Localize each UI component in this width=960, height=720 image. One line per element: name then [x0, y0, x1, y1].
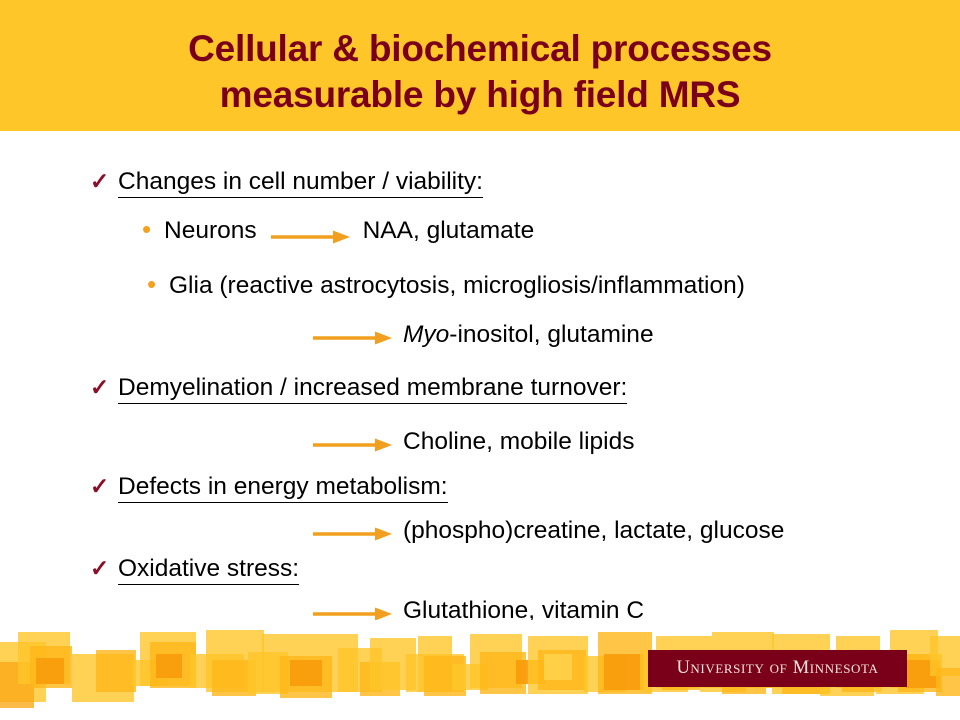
- check-icon: ✓: [90, 167, 118, 195]
- university-logo-text: University of Minnesota: [676, 658, 878, 679]
- decorative-square: [936, 668, 960, 696]
- list-item-changes: ✓Changes in cell number / viability:: [90, 167, 483, 198]
- list-item-label: Oxidative stress:: [118, 555, 299, 585]
- list-item-target-italic: Myo: [403, 321, 449, 348]
- arrow-right-icon: [313, 522, 393, 540]
- list-item-neurons: •NeuronsNAA, glutamate: [142, 215, 534, 245]
- list-item-label: Changes in cell number / viability:: [118, 168, 483, 198]
- list-item-label: Demyelination / increased membrane turno…: [118, 374, 627, 404]
- list-item-target: NAA, glutamate: [363, 217, 535, 245]
- list-item-label: Neurons: [164, 217, 257, 245]
- decorative-square: [96, 650, 136, 692]
- check-icon: ✓: [90, 554, 118, 582]
- arrow-right-icon: [313, 433, 393, 451]
- page-title-line-2: measurable by high field MRS: [0, 72, 960, 118]
- list-item-glia: •Glia (reactive astrocytosis, microglios…: [147, 270, 745, 300]
- list-item-demyelination: ✓Demyelination / increased membrane turn…: [90, 373, 627, 404]
- list-item-choline: Choline, mobile lipids: [313, 428, 635, 456]
- list-item-oxidative-stress: ✓Oxidative stress:: [90, 554, 299, 585]
- bullet-dot-icon: •: [147, 270, 169, 298]
- list-item-myo-inositol: Myo-inositol, glutamine: [313, 321, 654, 349]
- list-item-target: Myo-inositol, glutamine: [393, 321, 654, 349]
- list-item-label: Defects in energy metabolism:: [118, 473, 448, 503]
- page-title: Cellular & biochemical processes measura…: [0, 26, 960, 118]
- arrow-right-icon: [313, 326, 393, 344]
- list-item-target: Choline, mobile lipids: [393, 428, 635, 456]
- decorative-square: [156, 654, 182, 678]
- list-item-label: Glia (reactive astrocytosis, microgliosi…: [169, 272, 745, 300]
- check-icon: ✓: [90, 472, 118, 500]
- arrow-right-icon: [271, 224, 351, 240]
- list-item-creatine: (phospho)creatine, lactate, glucose: [313, 517, 784, 545]
- decorative-square: [604, 654, 644, 690]
- page-title-line-1: Cellular & biochemical processes: [0, 26, 960, 72]
- list-item-target: (phospho)creatine, lactate, glucose: [393, 517, 784, 545]
- decorative-square: [36, 658, 64, 684]
- slide-body: ✓Changes in cell number / viability: •Ne…: [0, 131, 960, 620]
- check-icon: ✓: [90, 373, 118, 401]
- bullet-dot-icon: •: [142, 215, 164, 243]
- arrow-right-icon: [313, 602, 393, 620]
- list-item-defects-energy: ✓Defects in energy metabolism:: [90, 472, 448, 503]
- university-logo: University of Minnesota: [648, 650, 907, 687]
- decorative-square: [544, 654, 572, 680]
- list-item-target-rest: -inositol, glutamine: [449, 321, 653, 348]
- decorative-square: [290, 660, 322, 686]
- slide-header-band: Cellular & biochemical processes measura…: [0, 0, 960, 131]
